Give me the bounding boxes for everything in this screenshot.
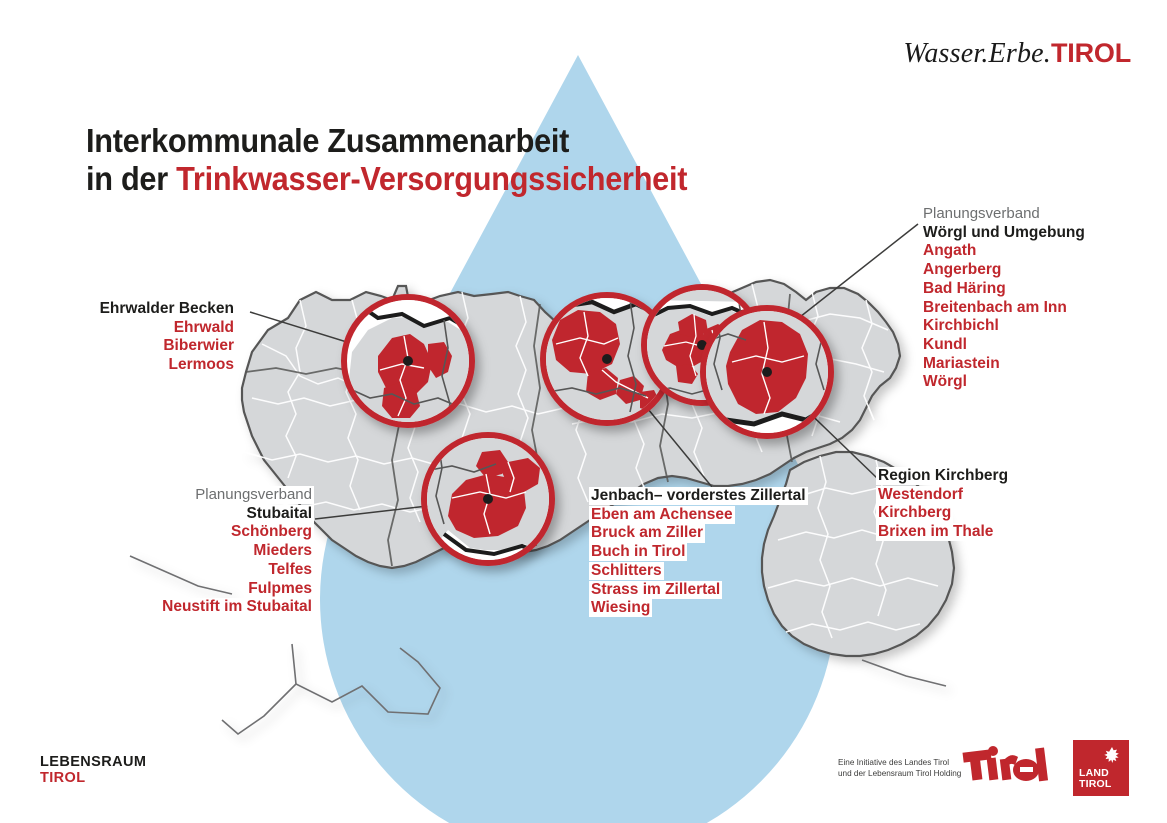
initiative-line1: Eine Initiative des Landes Tirol [838, 757, 961, 768]
group-municipality: Westendorf [876, 486, 1010, 505]
page-title: Interkommunale Zusammenarbeit in der Tri… [86, 122, 732, 197]
group-municipality: Brixen im Thale [876, 523, 1010, 542]
group-label-kirchberg: Region Kirchberg Westendorf Kirchberg Br… [876, 467, 1010, 542]
group-title: Wörgl und Umgebung [921, 224, 1087, 243]
land-tirol-text: LAND TIROL [1079, 768, 1112, 790]
group-municipality: Mariastein [921, 355, 1087, 374]
group-municipality: Biberwier [36, 337, 236, 356]
page-title-line2-accent: Trinkwasser-Versorgungssicherheit [176, 160, 687, 197]
group-municipality: Bruck am Ziller [589, 524, 808, 543]
circle-kirchberg [703, 308, 836, 436]
brandmark-tirol: TIROL [1051, 38, 1131, 68]
group-municipality: Kirchbichl [921, 317, 1087, 336]
land-tirol-logo: LAND TIROL [1073, 740, 1129, 796]
group-municipality: Wörgl [921, 373, 1087, 392]
tirol-eagle-icon [1101, 745, 1123, 767]
group-label-ehrwalder-becken: Ehrwalder Becken Ehrwald Biberwier Lermo… [36, 300, 236, 375]
land-tirol-line2: TIROL [1079, 779, 1112, 790]
group-municipality: Eben am Achensee [589, 506, 808, 525]
group-title: Ehrwalder Becken [36, 300, 236, 319]
group-municipality: Kirchberg [876, 504, 1010, 523]
group-municipality: Buch in Tirol [589, 543, 808, 562]
brandmark-wasser-erbe: Wasser.Erbe. [903, 38, 1051, 69]
circle-stubaital [424, 435, 554, 563]
group-label-stubaital: Planungsverband Stubaital Schönberg Mied… [80, 486, 314, 617]
group-municipality: Lermoos [36, 356, 236, 375]
initiative-line2: und der Lebensraum Tirol Holding [838, 768, 961, 779]
page-title-line2: in der Trinkwasser-Versorgungssicherheit [86, 160, 687, 198]
group-municipality: Bad Häring [921, 280, 1087, 299]
group-municipality: Ehrwald [36, 319, 236, 338]
group-kicker: Planungsverband [80, 486, 314, 505]
group-municipality: Angath [921, 242, 1087, 261]
group-municipality: Strass im Zillertal [589, 581, 808, 600]
group-label-woergl: Planungsverband Wörgl und Umgebung Angat… [921, 205, 1087, 392]
lebensraum-line2: TIROL [40, 771, 146, 787]
group-municipality: Fulpmes [80, 580, 314, 599]
group-municipality: Kundl [921, 336, 1087, 355]
group-title: Stubaital [80, 505, 314, 524]
group-municipality: Wiesing [589, 599, 808, 618]
brandmark-wasser-erbe-tirol: Wasser.Erbe.TIROL [903, 38, 1131, 70]
group-municipality: Schlitters [589, 562, 808, 581]
group-label-jenbach: Jenbach– vorderstes Zillertal Eben am Ac… [589, 487, 808, 618]
group-municipality: Mieders [80, 542, 314, 561]
group-municipality: Telfes [80, 561, 314, 580]
page-title-line2-plain: in der [86, 160, 176, 197]
tirol-logo [962, 742, 1048, 788]
initiative-credit: Eine Initiative des Landes Tirol und der… [838, 757, 961, 779]
group-title: Jenbach– vorderstes Zillertal [589, 487, 808, 506]
group-municipality: Neustift im Stubaital [80, 598, 314, 617]
group-municipality: Angerberg [921, 261, 1087, 280]
group-municipality: Breitenbach am Inn [921, 299, 1087, 318]
page-title-line1: Interkommunale Zusammenarbeit [86, 122, 687, 160]
group-kicker: Planungsverband [921, 205, 1087, 224]
lebensraum-line1: LEBENSRAUM [40, 755, 146, 771]
lebensraum-tirol-logo: LEBENSRAUM TIROL [40, 755, 146, 786]
infographic-canvas: Wasser.Erbe.TIROL Interkommunale Zusamme… [0, 0, 1167, 823]
group-title: Region Kirchberg [876, 467, 1010, 486]
group-municipality: Schönberg [80, 523, 314, 542]
